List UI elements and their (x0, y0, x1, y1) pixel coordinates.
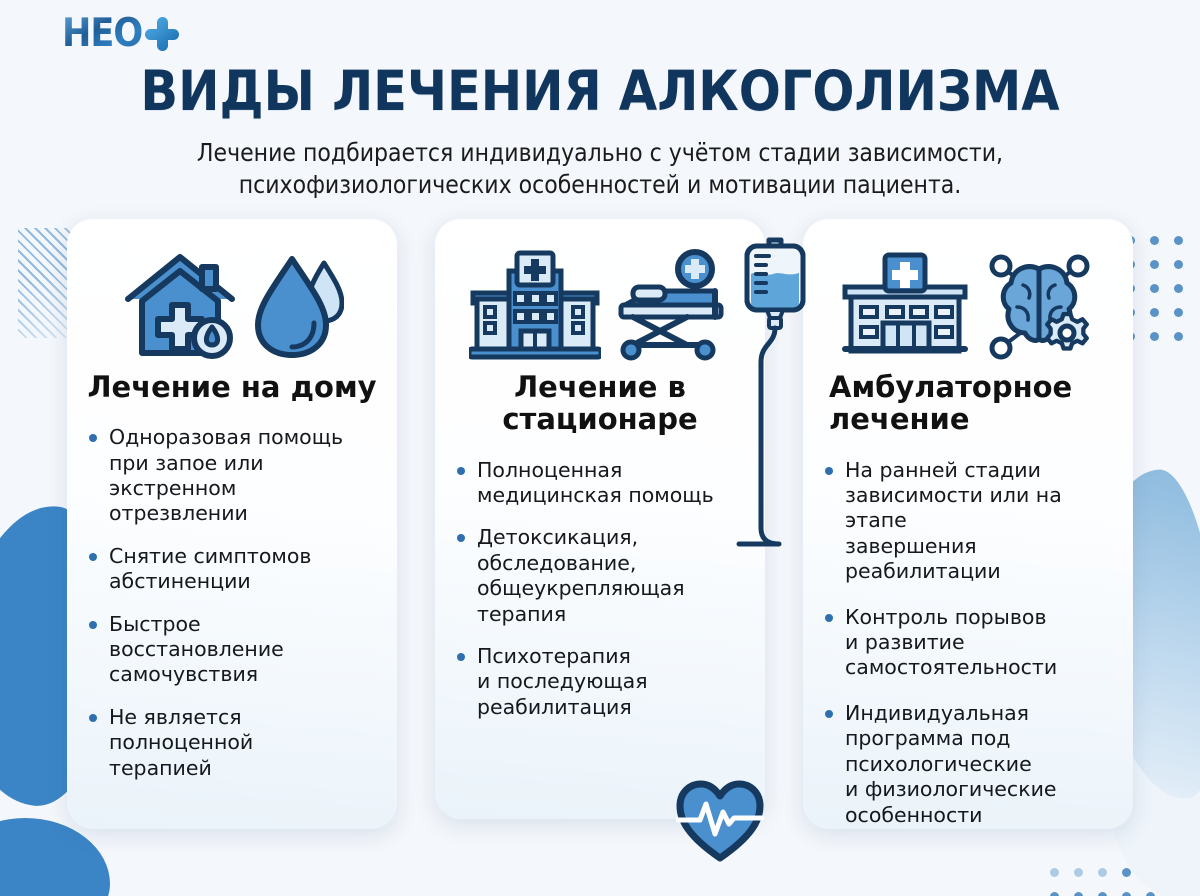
blue-blob-left-bottom (0, 818, 110, 896)
page-header: НЕО ВИДЫ ЛЕЧЕНИЯ АЛКОГОЛИЗМА Лечение под… (0, 0, 1200, 201)
card-title: Лечение на дому (87, 371, 377, 403)
card-outpatient-treatment[interactable]: Амбулаторное лечение На ранней стадии за… (803, 219, 1133, 829)
list-item: На ранней стадии зависимости или на этап… (823, 458, 1113, 585)
iv-drip-bag-icon (735, 232, 835, 562)
list-item: Не является полноценной терапией (87, 705, 377, 781)
page-subtitle: Лечение подбирается индивидуально с учёт… (85, 137, 1115, 201)
hospital-stretcher-icon (615, 249, 731, 361)
house-medical-icon (120, 249, 240, 361)
neo-plus-logo[interactable]: НЕО (62, 14, 1200, 53)
card-bullet-list: На ранней стадии зависимости или на этап… (823, 458, 1113, 828)
clinic-building-icon (841, 249, 969, 361)
hospital-building-icon (469, 249, 601, 361)
card-icons (87, 245, 377, 365)
card-icons (455, 245, 745, 365)
plus-icon (145, 17, 179, 51)
list-item: Одноразовая помощь при запое или экстрен… (87, 425, 377, 527)
card-title: Амбулаторное лечение (823, 371, 1113, 436)
list-item: Быстрое восстановление самочувствия (87, 612, 377, 688)
brain-gear-icon (983, 249, 1095, 361)
card-title: Лечение в стационаре (455, 371, 745, 436)
treatment-cards: Лечение на дому Одноразовая помощь при з… (0, 219, 1200, 829)
card-bullet-list: Полноценная медицинская помощь Детоксика… (455, 458, 745, 721)
water-drop-icon (254, 249, 344, 361)
list-item: Полноценная медицинская помощь (455, 458, 745, 509)
card-icons (823, 245, 1113, 365)
list-item: Индивидуальная программа под психологиче… (823, 701, 1113, 828)
card-bullet-list: Одноразовая помощь при запое или экстрен… (87, 425, 377, 781)
logo-wordmark: НЕО (62, 14, 142, 53)
list-item: Контроль порывов и развитие самостоятель… (823, 605, 1113, 681)
card-inpatient-treatment[interactable]: Лечение в стационаре Полноценная медицин… (435, 219, 765, 819)
heart-pulse-icon (676, 780, 764, 862)
list-item: Детоксикация, обследование, общеукрепляю… (455, 525, 745, 627)
card-home-treatment[interactable]: Лечение на дому Одноразовая помощь при з… (67, 219, 397, 829)
list-item: Психотерапия и последующая реабилитация (455, 644, 745, 720)
page-title: ВИДЫ ЛЕЧЕНИЯ АЛКОГОЛИЗМА (0, 59, 1200, 123)
list-item: Снятие симптомов абстиненции (87, 544, 377, 595)
